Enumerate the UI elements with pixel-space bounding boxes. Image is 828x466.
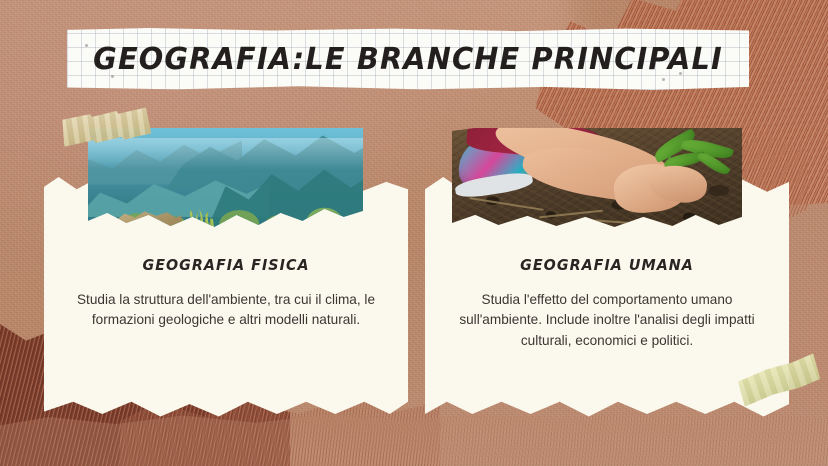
- page-title-plain: GEOGRAFIA:: [93, 42, 305, 77]
- card-heading-umana: GEOGRAFIA UMANA: [434, 256, 780, 274]
- mountain-haze: [88, 138, 363, 170]
- slide-canvas: GEOGRAFIA: LE BRANCHE PRINCIPALI GEOGRAF…: [0, 0, 828, 466]
- card-body-umana: Studia l'effetto del comportamento umano…: [454, 290, 760, 351]
- hands-planting-seedling-photo: [452, 128, 742, 229]
- page-title-emphasis: LE BRANCHE PRINCIPALI: [305, 42, 722, 77]
- card-heading-fisica: GEOGRAFIA FISICA: [53, 256, 399, 274]
- card-body-fisica: Studia la struttura dell'ambiente, tra c…: [73, 290, 379, 331]
- page-title: GEOGRAFIA: LE BRANCHE PRINCIPALI: [81, 28, 736, 90]
